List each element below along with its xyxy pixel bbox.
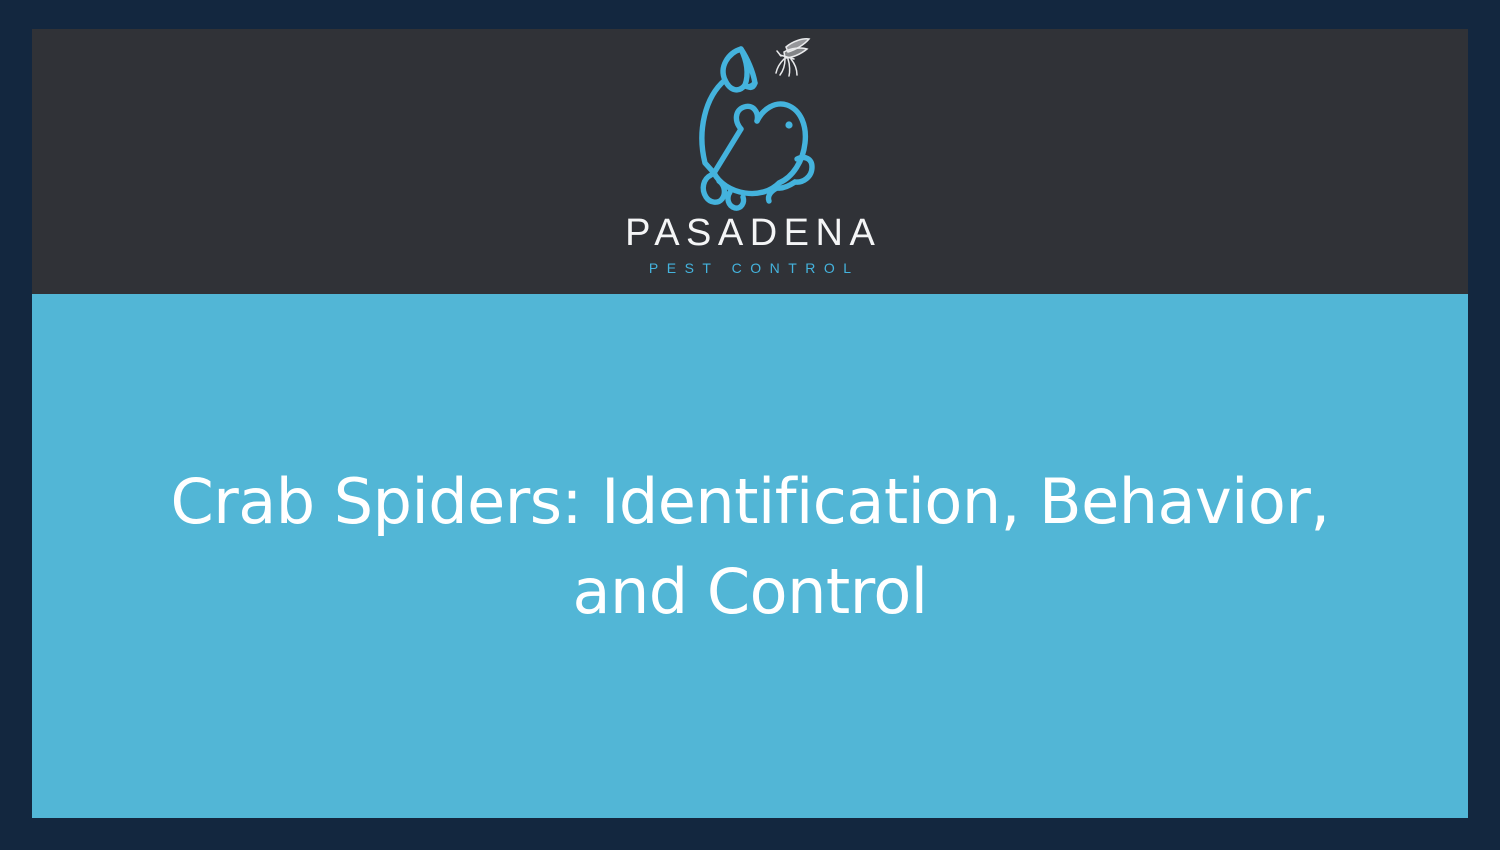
brand-tagline: PEST CONTROL: [640, 261, 859, 275]
mouse-and-mosquito-logo-icon: [685, 31, 815, 213]
slide-panel: PASADENA PEST CONTROL Crab Spiders: Iden…: [32, 29, 1468, 818]
brand-lockup: PASADENA PEST CONTROL: [32, 29, 1468, 294]
slide-frame: PASADENA PEST CONTROL Crab Spiders: Iden…: [0, 0, 1500, 850]
slide-header-band: PASADENA PEST CONTROL: [32, 29, 1468, 294]
page-title: Crab Spiders: Identification, Behavior, …: [125, 457, 1375, 655]
slide-title-area: Crab Spiders: Identification, Behavior, …: [32, 294, 1468, 818]
brand-name: PASADENA: [619, 214, 882, 252]
